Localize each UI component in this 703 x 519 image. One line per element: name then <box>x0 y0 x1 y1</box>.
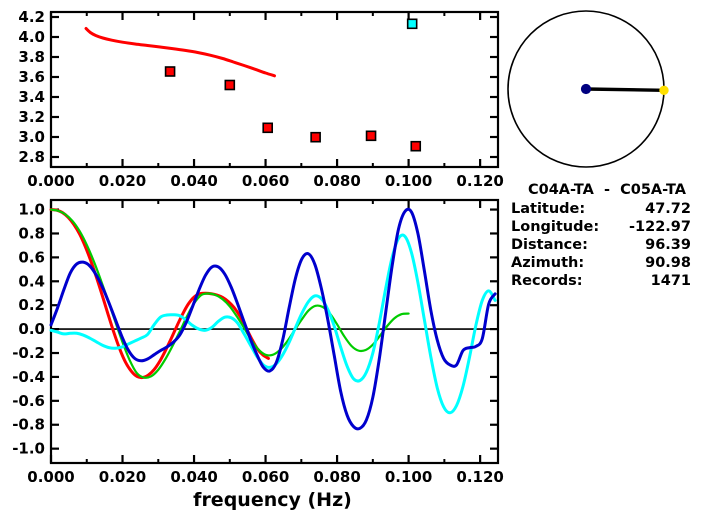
x-tick-label: 0.080 <box>313 468 360 486</box>
plot-frame <box>51 12 498 167</box>
distance-value: 96.39 <box>603 236 691 254</box>
x-axis-title: frequency (Hz) <box>193 489 352 511</box>
x-tick-label: 0.060 <box>242 172 289 190</box>
longitude-value: -122.97 <box>603 218 691 236</box>
records-value: 1471 <box>603 272 691 290</box>
azimuth-value: 90.98 <box>603 254 691 272</box>
data-point-marker <box>411 142 420 151</box>
y-tick-label: 3.0 <box>18 128 45 146</box>
x-tick-label: 0.120 <box>456 172 503 190</box>
azimuth-ray <box>586 89 664 90</box>
y-tick-label: 3.6 <box>18 68 45 86</box>
reference-station-dot <box>581 84 590 93</box>
y-tick-label: 4.0 <box>18 28 45 46</box>
x-tick-label: 0.080 <box>313 172 360 190</box>
info-row-records: Records:1471 <box>511 272 703 290</box>
x-tick-label: 0.100 <box>385 172 432 190</box>
info-row-azimuth: Azimuth:90.98 <box>511 254 703 272</box>
data-point-marker <box>311 133 320 142</box>
y-tick-label: 2.8 <box>18 148 45 166</box>
y-tick-label: 3.8 <box>18 48 45 66</box>
station-info-panel: C04A-TA - C05A-TA Latitude:47.72 Longitu… <box>511 181 703 290</box>
y-tick-label: 0.4 <box>18 272 45 290</box>
series-line-reference-curve <box>86 29 274 76</box>
latitude-value: 47.72 <box>603 200 691 218</box>
data-point-marker <box>367 131 376 140</box>
y-tick-label: 3.2 <box>18 108 45 126</box>
info-row-distance: Distance:96.39 <box>511 236 703 254</box>
y-tick-label: -1.0 <box>12 440 45 458</box>
info-row-longitude: Longitude:-122.97 <box>511 218 703 236</box>
y-tick-label: 1.0 <box>18 201 45 219</box>
info-row-latitude: Latitude:47.72 <box>511 200 703 218</box>
x-tick-label: 0.040 <box>170 172 217 190</box>
dispersion-plot-group: 0.0000.0200.0400.0600.0800.1000.1202.83.… <box>18 8 503 190</box>
station-pair-title: C04A-TA - C05A-TA <box>511 181 703 200</box>
data-point-marker <box>408 19 417 28</box>
y-tick-label: -0.2 <box>12 344 45 362</box>
data-point-marker <box>225 81 234 90</box>
x-tick-label: 0.020 <box>99 172 146 190</box>
plot-canvas: 0.0000.0200.0400.0600.0800.1000.1202.83.… <box>0 0 703 519</box>
waveform-plot-group: 0.0000.0200.0400.0600.0800.1000.120-1.0-… <box>12 200 504 511</box>
azimuth-label: Azimuth: <box>511 254 603 272</box>
y-tick-label: 4.2 <box>18 8 45 26</box>
azimuth-diagram-group <box>508 11 668 167</box>
y-tick-label: 0.8 <box>18 224 45 242</box>
x-tick-label: 0.120 <box>456 468 503 486</box>
latitude-label: Latitude: <box>511 200 603 218</box>
x-tick-label: 0.100 <box>385 468 432 486</box>
data-point-marker <box>166 67 175 76</box>
x-tick-label: 0.020 <box>99 468 146 486</box>
x-tick-label: 0.040 <box>170 468 217 486</box>
y-tick-label: 3.4 <box>18 88 45 106</box>
series-line-blue-trace <box>51 209 495 429</box>
distance-label: Distance: <box>511 236 603 254</box>
data-point-marker <box>263 123 272 132</box>
y-tick-label: -0.6 <box>12 392 45 410</box>
x-tick-label: 0.000 <box>27 468 74 486</box>
x-tick-label: 0.060 <box>242 468 289 486</box>
target-station-dot <box>660 86 668 94</box>
y-tick-label: -0.8 <box>12 416 45 434</box>
y-tick-label: 0.0 <box>18 320 45 338</box>
x-tick-label: 0.000 <box>27 172 74 190</box>
records-label: Records: <box>511 272 603 290</box>
y-tick-label: -0.4 <box>12 368 45 386</box>
y-tick-label: 0.6 <box>18 248 45 266</box>
y-tick-label: 0.2 <box>18 296 45 314</box>
longitude-label: Longitude: <box>511 218 603 236</box>
